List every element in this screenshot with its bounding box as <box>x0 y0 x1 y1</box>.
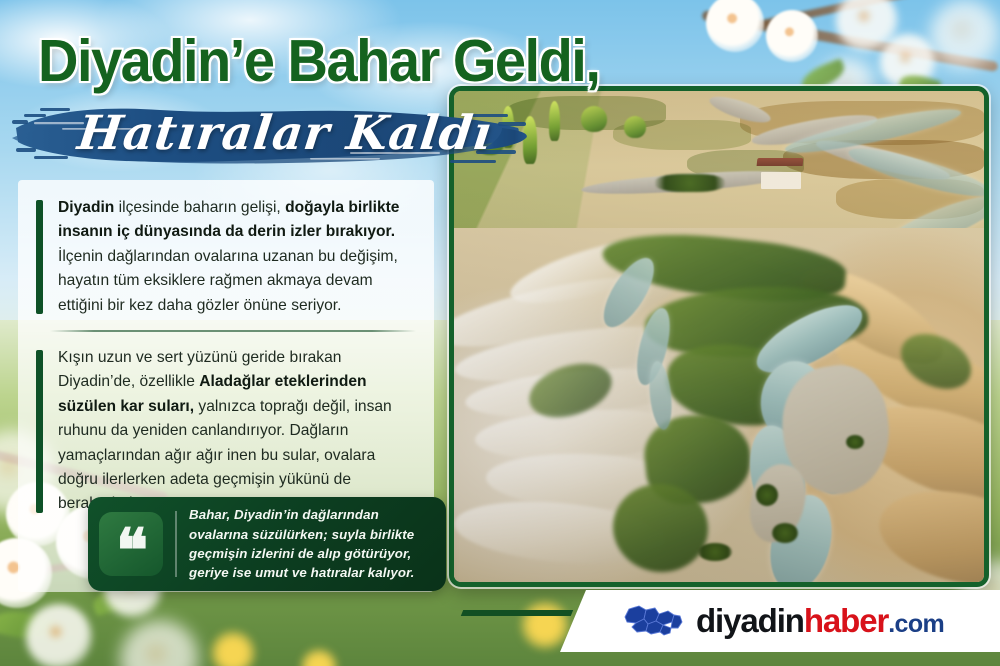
banner-accent-strip <box>461 610 573 616</box>
paragraph-1-plain-2: İlçenin dağlarından ovalarına uzanan bu … <box>58 248 398 314</box>
quote-badge: ❝ <box>99 512 163 576</box>
blossom-decor <box>766 10 818 62</box>
diyadin-map-icon <box>622 602 684 641</box>
blossom-decor <box>26 604 92 666</box>
logo-word-diyadin: diyadin <box>696 602 804 639</box>
page-subtitle: Hatıralar Kaldı <box>75 106 496 161</box>
paragraph-1-text: Diyadin ilçesinde baharın gelişi, doğayl… <box>58 196 416 318</box>
article-paragraph-2: Kışın uzun ve sert yüzünü geride bırakan… <box>36 346 418 517</box>
site-logo-text: diyadinhaber.com <box>696 602 944 640</box>
logo-word-haber: haber <box>804 602 888 639</box>
paragraph-2-plain-2: yalnızca toprağı değil, insan ruhunu da … <box>58 398 392 513</box>
section-divider <box>50 330 416 332</box>
pull-quote-box: ❝ Bahar, Diyadin’in dağlarından ovaların… <box>88 497 446 591</box>
paragraph-accent-bar <box>36 200 43 314</box>
paragraph-accent-bar <box>36 350 43 513</box>
paragraph-1-plain-1: ilçesinde baharın gelişi, <box>114 199 285 216</box>
yellow-flower-decor <box>520 600 570 650</box>
article-paragraph-1: Diyadin ilçesinde baharın gelişi, doğayl… <box>36 196 416 318</box>
paragraph-2-text: Kışın uzun ve sert yüzünü geride bırakan… <box>58 346 418 517</box>
logo-word-com: .com <box>888 610 944 638</box>
headline-block: Diyadin’e Bahar Geldi, Hatıralar Kaldı <box>0 0 560 185</box>
pull-quote-text: Bahar, Diyadin’in dağlarından ovalarına … <box>189 505 446 582</box>
page-title: Diyadin’e Bahar Geldi, <box>38 26 599 95</box>
blossom-decor <box>930 0 1000 70</box>
site-logo-banner[interactable]: diyadinhaber.com <box>560 590 1000 652</box>
paragraph-1-bold-1: Diyadin <box>58 199 114 216</box>
quote-separator <box>175 511 177 577</box>
